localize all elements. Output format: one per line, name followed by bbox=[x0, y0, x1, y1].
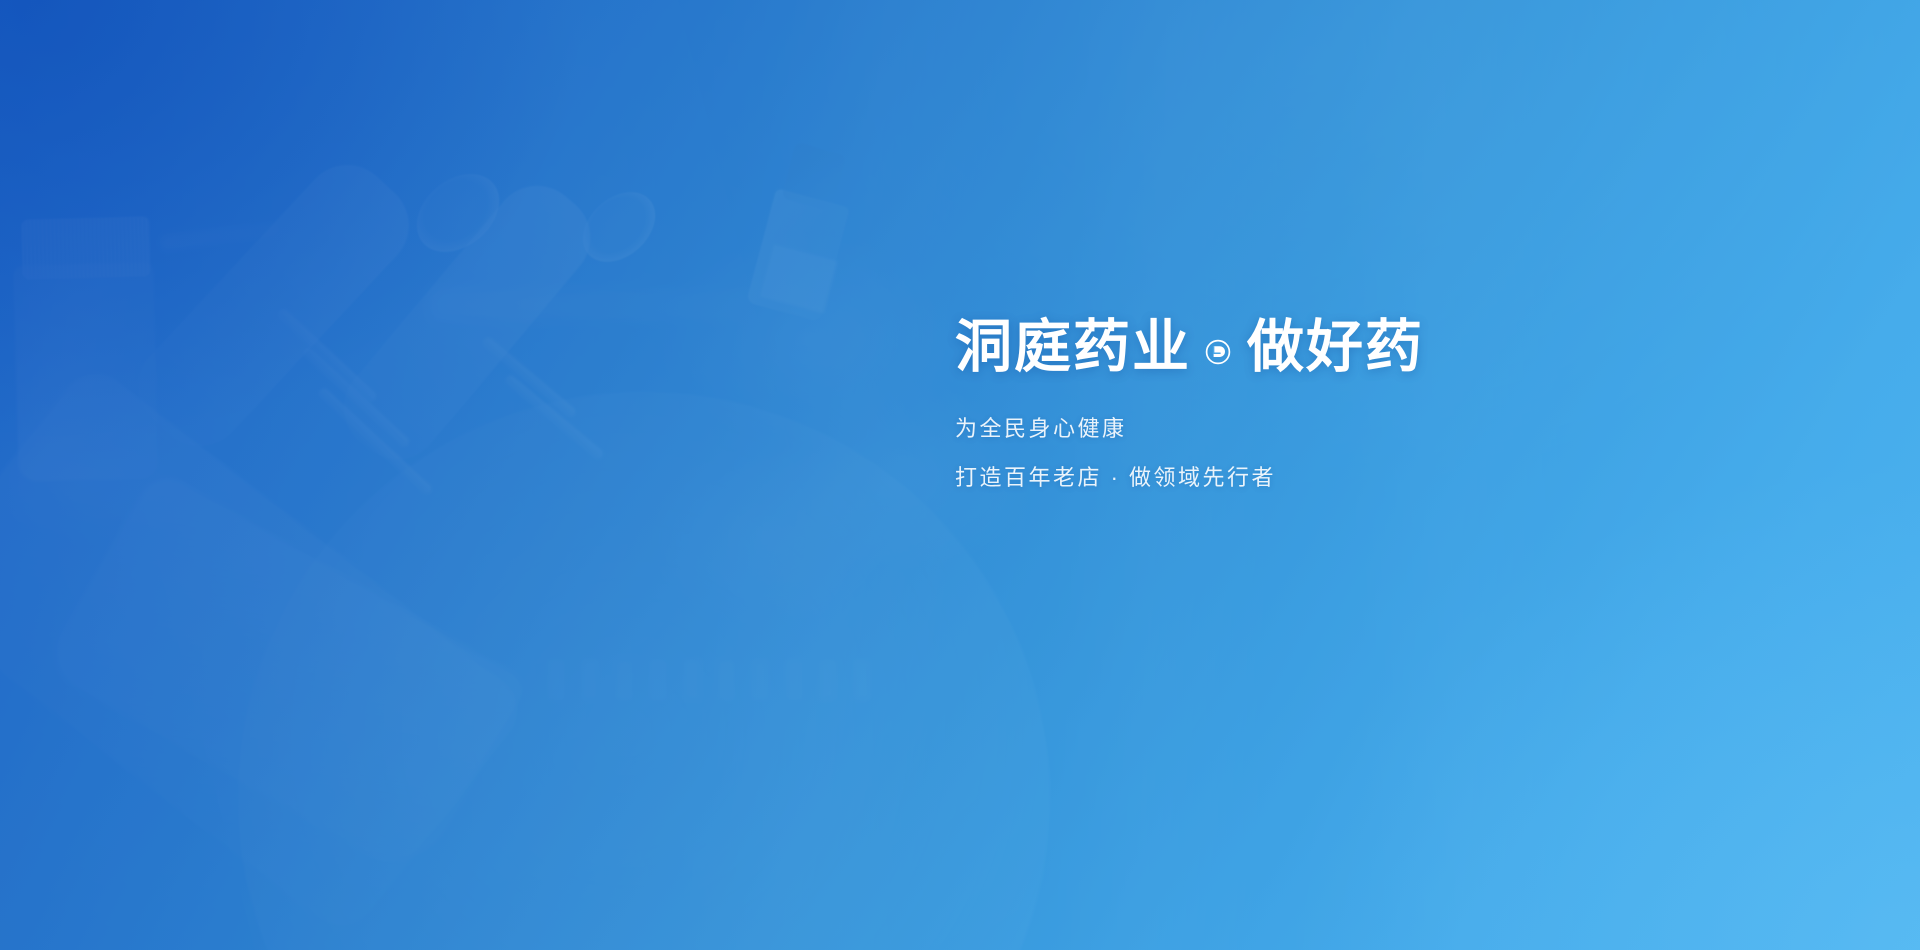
hero-banner: 洞庭药业 做好药 为全民身心健康 打造百年老店 · 做领域先行者 bbox=[0, 0, 1920, 950]
hero-subtitle-line-2: 打造百年老店 · 做领域先行者 bbox=[955, 460, 1424, 492]
dongting-circular-d-logo-icon bbox=[1205, 339, 1231, 365]
hero-subtitle-line-1: 为全民身心健康 bbox=[955, 411, 1424, 443]
headline-slogan: 做好药 bbox=[1247, 318, 1424, 378]
headline-brand-name: 洞庭药业 bbox=[955, 318, 1191, 378]
hero-text-block: 洞庭药业 做好药 为全民身心健康 打造百年老店 · 做领域先行者 bbox=[955, 318, 1424, 492]
hero-headline: 洞庭药业 做好药 bbox=[955, 318, 1424, 378]
